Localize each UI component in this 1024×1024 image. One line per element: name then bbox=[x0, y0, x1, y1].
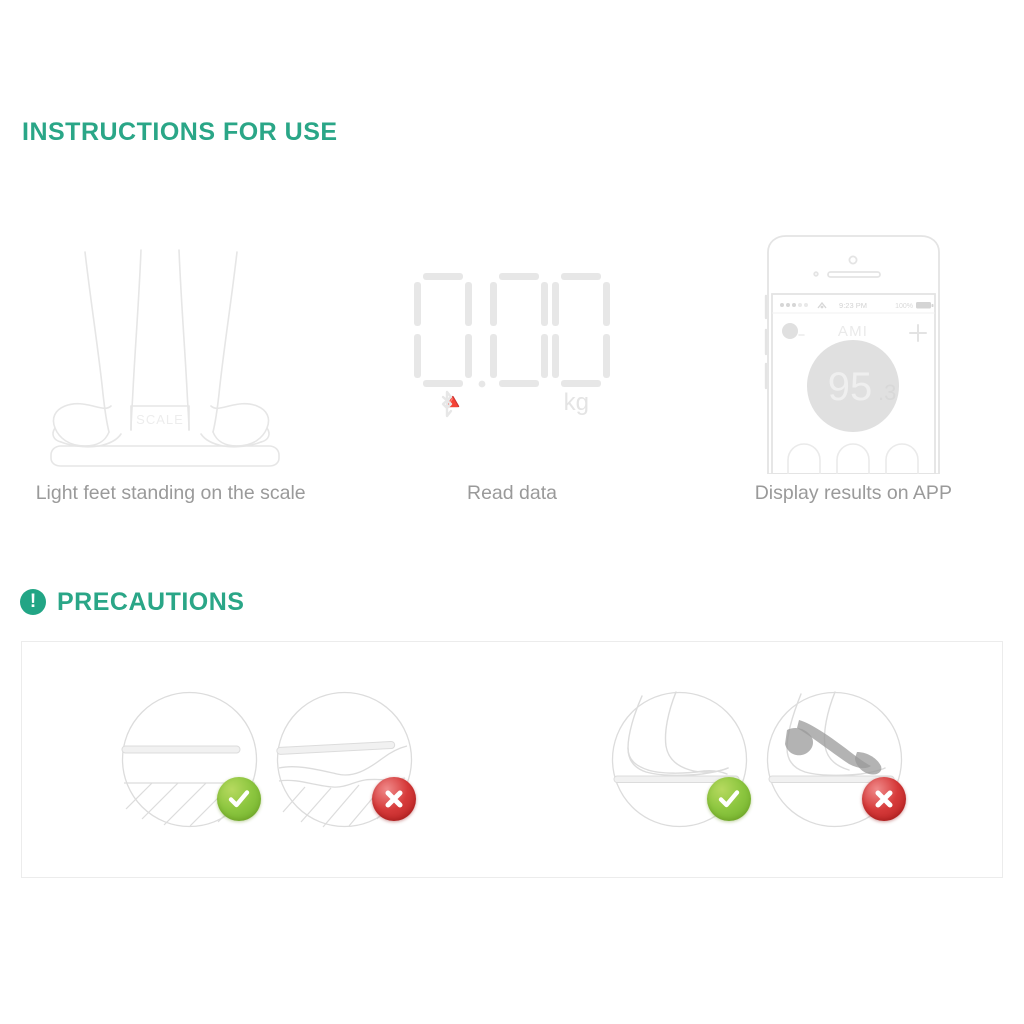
precaution-item-soft-floor-no bbox=[271, 686, 418, 833]
bluetooth-icon-glyph bbox=[437, 389, 457, 419]
app-title: AMI bbox=[838, 323, 868, 340]
check-circle-icon bbox=[217, 777, 261, 821]
app-weight-whole: 95 bbox=[828, 365, 873, 409]
exclamation-circle-icon: ! bbox=[20, 589, 46, 615]
app-weight-decimal: .3 bbox=[878, 380, 896, 405]
exclamation-mark-glyph: ! bbox=[30, 592, 36, 611]
lcd-unit-label: kg bbox=[564, 391, 589, 415]
lcd-sub-row: 🔺 kg bbox=[407, 391, 617, 431]
instruction-step-display-on-app: 9:23 PM 100% AMI bbox=[683, 205, 1024, 505]
scale-logo-text: SCALE bbox=[136, 412, 184, 427]
app-add-icon bbox=[910, 325, 926, 341]
instructions-steps-row: SCALE Light feet standing on the scale bbox=[0, 205, 1024, 505]
instruction-caption-feet-on-scale: Light feet standing on the scale bbox=[36, 482, 306, 505]
instruction-step-read-data: 0.00 🔺 kg Read data bbox=[341, 205, 682, 505]
cross-circle-icon bbox=[862, 777, 906, 821]
precaution-item-bare-foot-ok bbox=[606, 686, 753, 833]
instruction-sheet: INSTRUCTIONS FOR USE bbox=[0, 0, 1024, 1024]
app-avatar-icon bbox=[782, 323, 798, 339]
lcd-digits-group: 0.00 bbox=[407, 269, 617, 404]
phone-app-illustration: 9:23 PM 100% AMI bbox=[683, 231, 1024, 476]
phone-status-time: 9:23 PM bbox=[839, 301, 867, 310]
cross-circle-icon bbox=[372, 777, 416, 821]
instruction-caption-read-data: Read data bbox=[467, 482, 557, 505]
instruction-caption-display-on-app: Display results on APP bbox=[755, 482, 952, 505]
phone-status-battery-percent: 100% bbox=[895, 303, 913, 310]
precaution-group-surface-type bbox=[22, 686, 512, 833]
precaution-item-hard-floor-ok bbox=[116, 686, 263, 833]
precautions-panel bbox=[21, 641, 1003, 878]
precautions-heading: PRECAUTIONS bbox=[57, 588, 244, 617]
precaution-group-footwear bbox=[512, 686, 1002, 833]
lcd-display-illustration: 0.00 🔺 kg bbox=[341, 231, 682, 476]
instructions-heading: INSTRUCTIONS FOR USE bbox=[22, 118, 338, 147]
feet-on-scale-illustration: SCALE bbox=[0, 231, 341, 476]
instruction-step-feet-on-scale: SCALE Light feet standing on the scale bbox=[0, 205, 341, 505]
precaution-item-sock-foot-no bbox=[761, 686, 908, 833]
check-circle-icon bbox=[707, 777, 751, 821]
